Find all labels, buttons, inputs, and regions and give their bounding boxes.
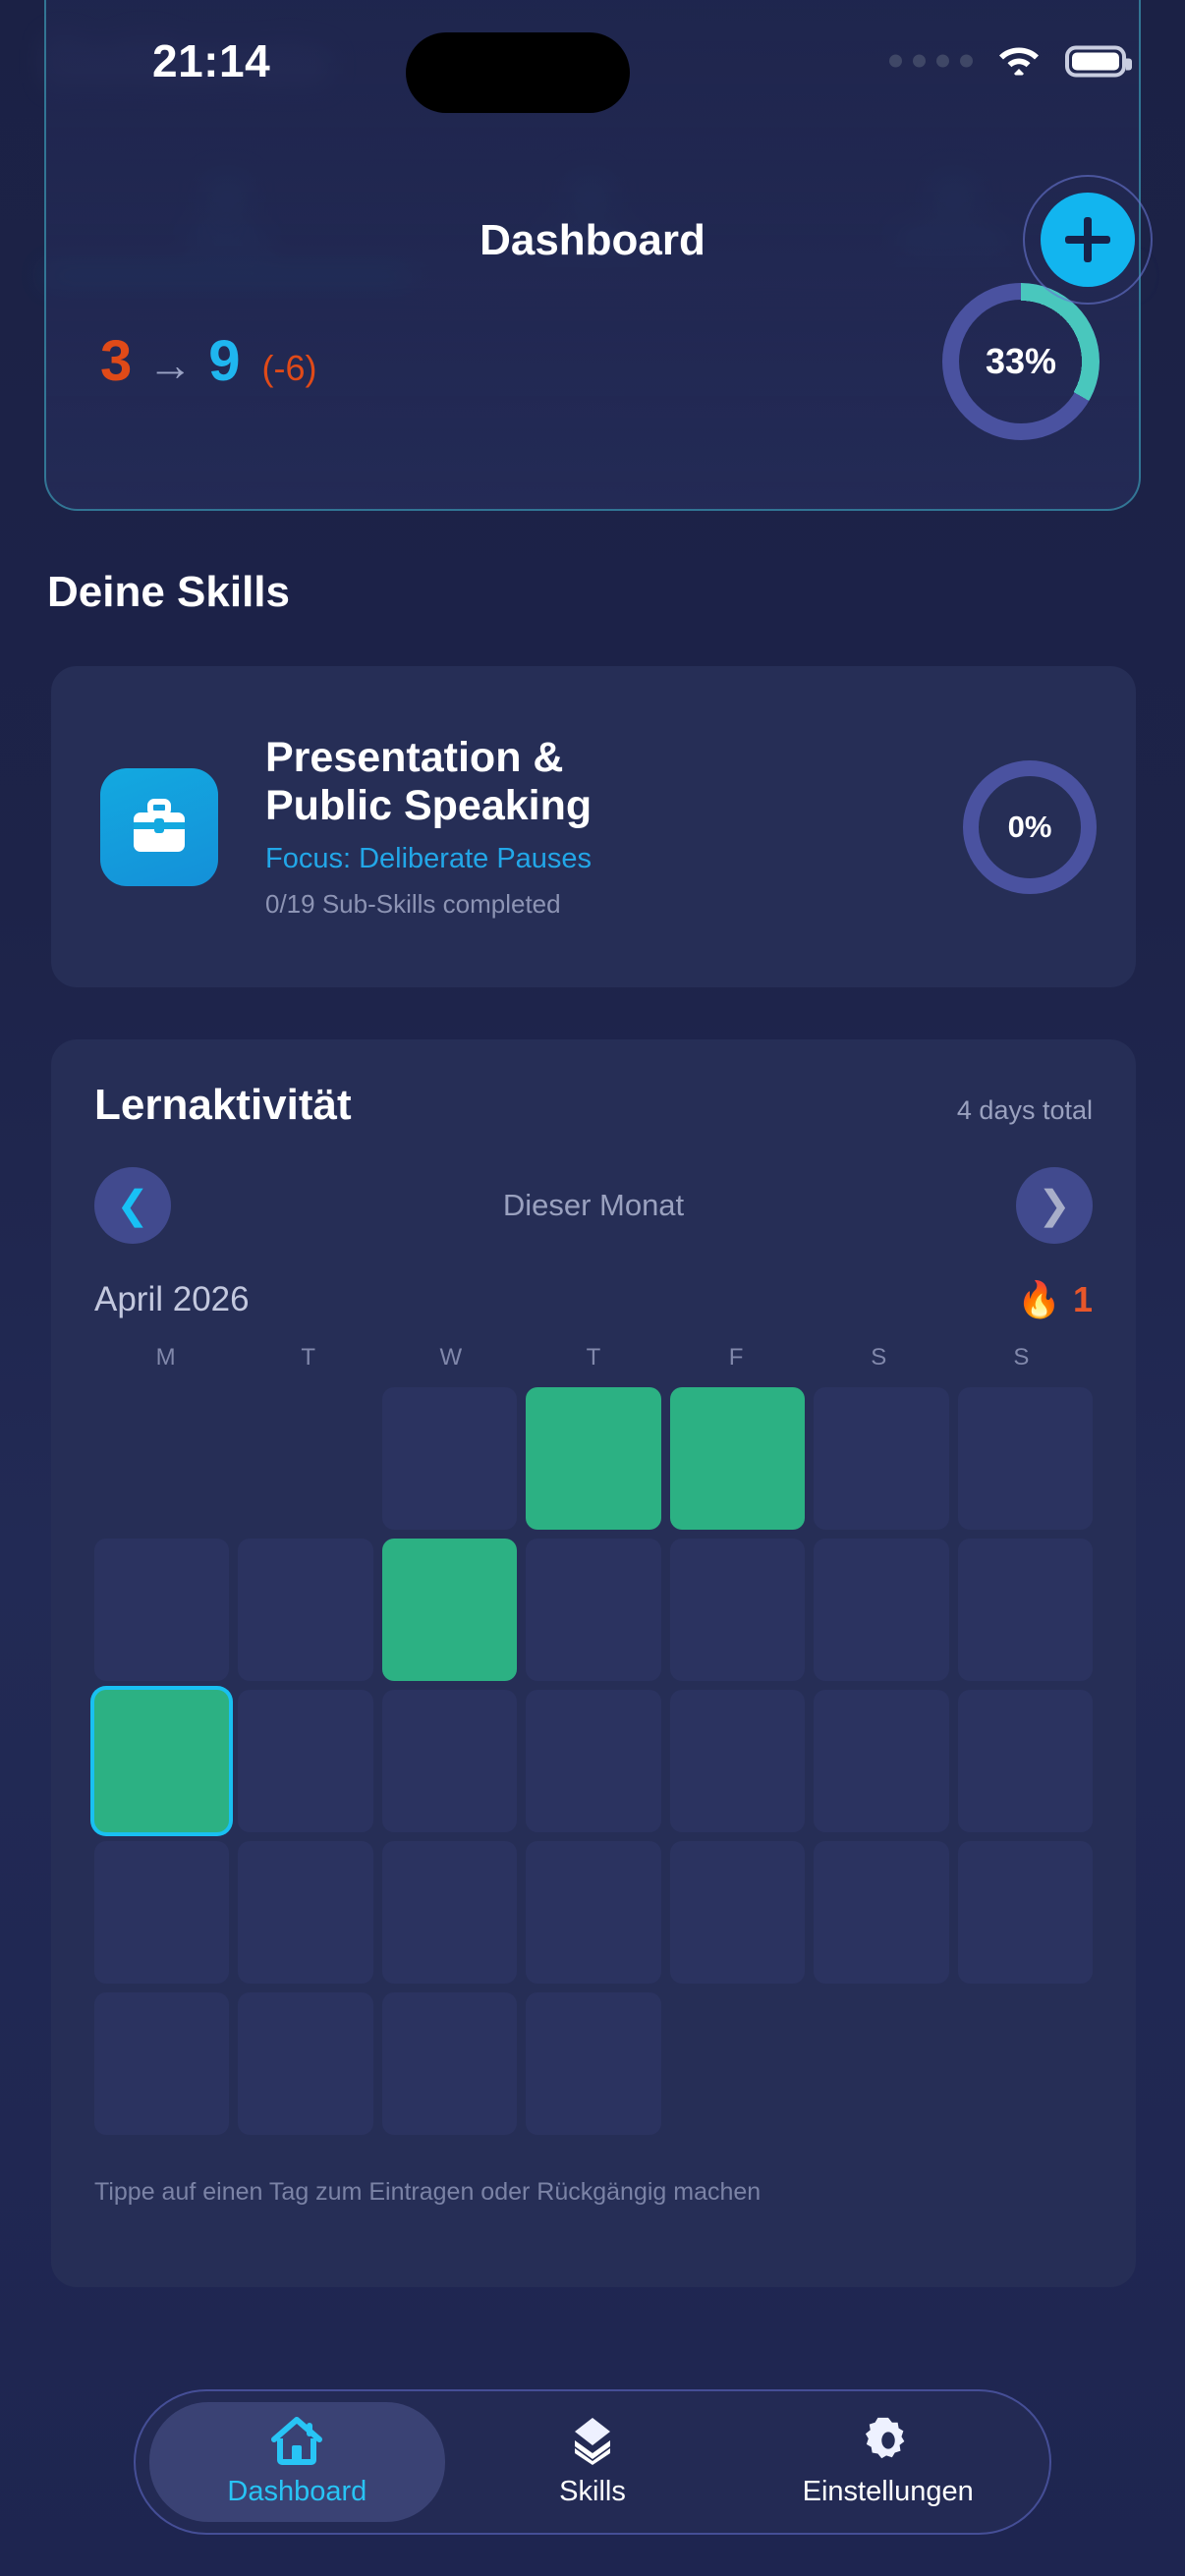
calendar-cell-empty (814, 1992, 948, 2135)
skills-section-heading: Deine Skills (47, 568, 290, 617)
skill-title: Presentation & Public Speaking (265, 734, 963, 828)
calendar-day-cell[interactable] (382, 1387, 517, 1530)
calendar-day-cell[interactable] (382, 1539, 517, 1681)
flame-icon: 🔥 (1017, 1282, 1061, 1317)
calendar-day-cell[interactable] (238, 1539, 372, 1681)
calendar-day-cell[interactable] (958, 1539, 1093, 1681)
ring-percent-label: 33% (942, 283, 1100, 440)
plus-icon (1041, 193, 1135, 287)
chevron-right-icon[interactable]: ❯ (1016, 1167, 1093, 1244)
calendar-day-cell[interactable] (958, 1690, 1093, 1832)
calendar-day-cell[interactable] (814, 1690, 948, 1832)
skill-title-line2: Public Speaking (265, 782, 963, 829)
calendar-day-cell[interactable] (958, 1387, 1093, 1530)
streak-badge: 🔥 1 (1017, 1279, 1093, 1320)
streak-count: 1 (1073, 1279, 1093, 1320)
tab-skills[interactable]: Skills (445, 2402, 741, 2522)
calendar-day-cell[interactable] (814, 1539, 948, 1681)
calendar-day-cell[interactable] (382, 1690, 517, 1832)
calendar-day-cell[interactable] (526, 1992, 660, 2135)
calendar-day-cell[interactable] (238, 1992, 372, 2135)
skill-subskills-count: 0/19 Sub-Skills completed (265, 889, 963, 920)
month-label: April 2026 (94, 1280, 250, 1319)
weekday-label: M (94, 1344, 237, 1372)
activity-title: Lernaktivität (94, 1081, 352, 1130)
weekday-label: F (665, 1344, 808, 1372)
overall-progress-ring: 33% (942, 283, 1100, 440)
tab-dashboard[interactable]: Dashboard (149, 2402, 445, 2522)
weekday-label: W (379, 1344, 522, 1372)
calendar-day-cell[interactable] (670, 1387, 805, 1530)
month-row: April 2026 🔥 1 (94, 1279, 1093, 1320)
tab-label: Einstellungen (803, 2476, 974, 2508)
status-bar: 21:14 (0, 0, 1185, 128)
briefcase-icon (100, 768, 218, 886)
status-bar-time: 21:14 (152, 34, 270, 87)
ring-percent-label: 0% (963, 760, 1097, 894)
month-navigation: ❮ Dieser Monat ❯ (94, 1167, 1093, 1244)
home-icon (270, 2416, 323, 2470)
score-from: 3 (100, 333, 132, 390)
calendar-day-cell[interactable] (94, 1841, 229, 1984)
calendar-day-cell[interactable] (238, 1690, 372, 1832)
calendar-cell-empty (958, 1992, 1093, 2135)
calendar-day-cell[interactable] (670, 1690, 805, 1832)
skill-focus: Focus: Deliberate Pauses (265, 843, 963, 875)
weekday-label: T (237, 1344, 379, 1372)
calendar-day-cell[interactable] (526, 1841, 660, 1984)
gear-icon (862, 2416, 915, 2470)
add-button[interactable] (1023, 175, 1153, 305)
calendar-day-cell[interactable] (526, 1690, 660, 1832)
calendar-day-cell[interactable] (814, 1387, 948, 1530)
progress-stats-row: 3 → 9 (-6) 33% (100, 283, 1100, 440)
calendar-day-cell[interactable] (814, 1841, 948, 1984)
tab-label: Skills (559, 2476, 626, 2508)
wifi-icon (996, 42, 1042, 81)
activity-header: Lernaktivität 4 days total (94, 1081, 1093, 1130)
skill-card[interactable]: Presentation & Public Speaking Focus: De… (51, 666, 1136, 987)
calendar-cell-empty (238, 1387, 372, 1530)
score-difference: (-6) (262, 351, 317, 386)
weekday-header-row: M T W T F S S (94, 1344, 1093, 1372)
calendar-cell-empty (670, 1992, 805, 2135)
tab-settings[interactable]: Einstellungen (740, 2402, 1036, 2522)
calendar-day-cell[interactable] (670, 1841, 805, 1984)
cellular-dots-icon (889, 55, 973, 68)
chevron-left-icon[interactable]: ❮ (94, 1167, 171, 1244)
calendar-hint: Tippe auf einen Tag zum Eintragen oder R… (94, 2178, 1093, 2207)
weekday-label: S (950, 1344, 1093, 1372)
tab-label: Dashboard (227, 2476, 367, 2508)
calendar-day-cell[interactable] (958, 1841, 1093, 1984)
learning-activity-card: Lernaktivität 4 days total ❮ Dieser Mona… (51, 1039, 1136, 2287)
dynamic-island (406, 32, 630, 113)
calendar-day-cell[interactable] (94, 1539, 229, 1681)
calendar-day-cell[interactable] (382, 1992, 517, 2135)
skill-info: Presentation & Public Speaking Focus: De… (265, 734, 963, 919)
skill-title-line1: Presentation & (265, 734, 963, 781)
calendar-day-cell[interactable] (94, 1992, 229, 2135)
status-bar-indicators (889, 42, 1126, 81)
weekday-label: S (808, 1344, 950, 1372)
activity-total-days: 4 days total (957, 1095, 1093, 1126)
range-label: Dieser Monat (503, 1188, 684, 1223)
calendar-day-cell[interactable] (94, 1690, 229, 1832)
calendar-cell-empty (94, 1387, 229, 1530)
skill-progress-ring: 0% (963, 760, 1097, 894)
calendar-day-cell[interactable] (670, 1539, 805, 1681)
calendar-day-cell[interactable] (526, 1539, 660, 1681)
weekday-label: T (522, 1344, 664, 1372)
score-delta: 3 → 9 (-6) (100, 333, 317, 390)
bottom-navigation-bar: Dashboard Skills Einstellungen (134, 2389, 1051, 2535)
page-title: Dashboard (0, 216, 1185, 265)
arrow-right-icon: → (147, 342, 193, 387)
calendar-day-cell[interactable] (382, 1841, 517, 1984)
battery-full-icon (1065, 45, 1126, 77)
calendar-day-cell[interactable] (238, 1841, 372, 1984)
activity-calendar-grid (94, 1387, 1093, 2135)
score-to: 9 (208, 333, 240, 390)
calendar-day-cell[interactable] (526, 1387, 660, 1530)
layers-icon (566, 2416, 619, 2470)
